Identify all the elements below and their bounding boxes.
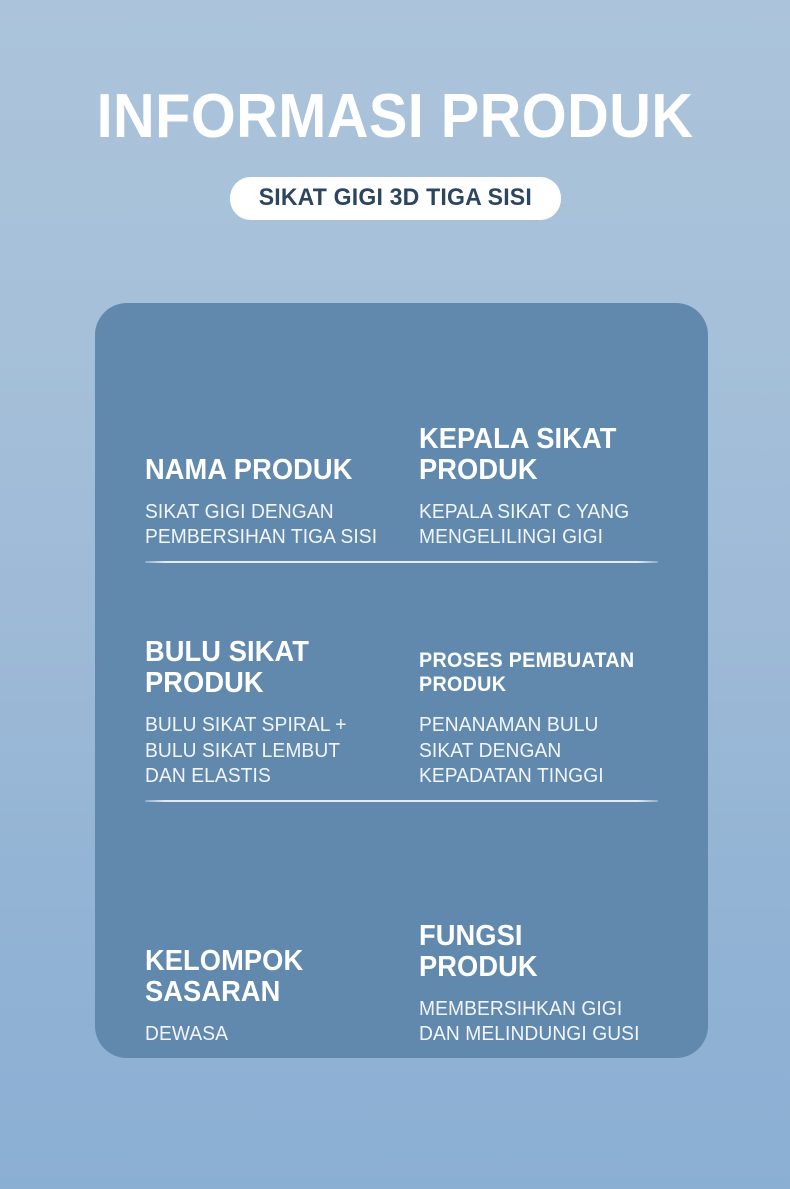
info-heading-kepala-sikat: KEPALA SIKAT PRODUK [419, 424, 644, 486]
info-body-proses-pembuatan: PENANAMAN BULU SIKAT DENGAN KEPADATAN TI… [419, 713, 649, 790]
page-header: INFORMASI PRODUK SIKAT GIGI 3D TIGA SISI [0, 0, 790, 220]
info-cell-kepala-sikat: KEPALA SIKAT PRODUK KEPALA SIKAT C YANG … [402, 303, 659, 561]
product-badge-container: SIKAT GIGI 3D TIGA SISI [0, 177, 790, 220]
info-heading-fungsi-produk: FUNGSI PRODUK [419, 921, 644, 983]
info-heading-kelompok-sasaran: KELOMPOK SASARAN [145, 946, 386, 1008]
info-body-kepala-sikat: KEPALA SIKAT C YANG MENGELILINGI GIGI [419, 500, 649, 551]
info-cell-proses-pembuatan: PROSES PEMBUATAN PRODUK PENANAMAN BULU S… [402, 563, 659, 800]
info-row-3: KELOMPOK SASARAN DEWASA FUNGSI PRODUK ME… [145, 802, 658, 1058]
info-body-bulu-sikat: BULU SIKAT SPIRAL + BULU SIKAT LEMBUT DA… [145, 713, 391, 790]
info-heading-bulu-sikat: BULU SIKAT PRODUK [145, 637, 386, 699]
info-cell-kelompok-sasaran: KELOMPOK SASARAN DEWASA [145, 802, 402, 1058]
info-heading-nama-produk: NAMA PRODUK [145, 455, 386, 486]
info-row-2: BULU SIKAT PRODUK BULU SIKAT SPIRAL + BU… [145, 563, 658, 800]
info-body-fungsi-produk: MEMBERSIHKAN GIGI DAN MELINDUNGI GUSI [419, 997, 649, 1048]
info-cell-nama-produk: NAMA PRODUK SIKAT GIGI DENGAN PEMBERSIHA… [145, 303, 402, 561]
product-info-card: NAMA PRODUK SIKAT GIGI DENGAN PEMBERSIHA… [95, 303, 708, 1058]
info-rows: NAMA PRODUK SIKAT GIGI DENGAN PEMBERSIHA… [145, 303, 658, 1058]
info-body-nama-produk: SIKAT GIGI DENGAN PEMBERSIHAN TIGA SISI [145, 500, 391, 551]
info-body-kelompok-sasaran: DEWASA [145, 1022, 391, 1048]
info-cell-bulu-sikat: BULU SIKAT PRODUK BULU SIKAT SPIRAL + BU… [145, 563, 402, 800]
info-row-1: NAMA PRODUK SIKAT GIGI DENGAN PEMBERSIHA… [145, 303, 658, 561]
product-name-badge: SIKAT GIGI 3D TIGA SISI [230, 177, 561, 220]
info-heading-proses-pembuatan: PROSES PEMBUATAN PRODUK [419, 649, 644, 696]
page-title: INFORMASI PRODUK [28, 86, 763, 148]
info-cell-fungsi-produk: FUNGSI PRODUK MEMBERSIHKAN GIGI DAN MELI… [402, 802, 659, 1058]
